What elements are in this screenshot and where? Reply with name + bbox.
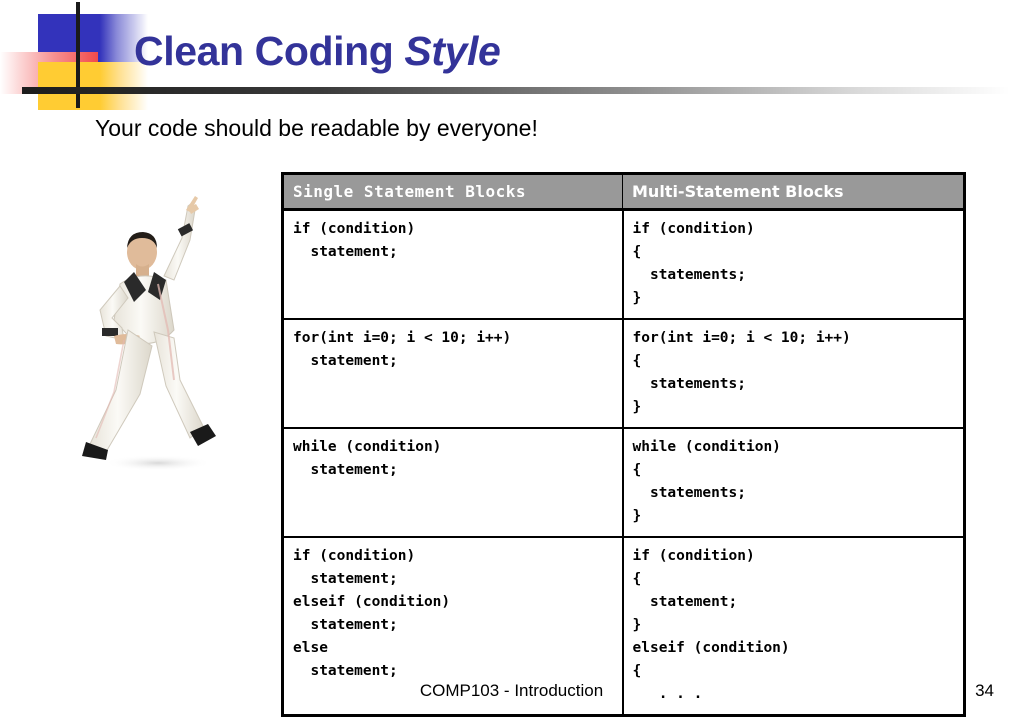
cell-single-while: while (condition) statement; [283, 428, 623, 537]
column-header-single-statement: Single Statement Blocks [283, 174, 623, 210]
page-title-main: Clean Coding [134, 28, 404, 74]
table-header-row: Single Statement Blocks Multi-Statement … [283, 174, 965, 210]
cell-multi-for: for(int i=0; i < 10; i++) { statements; … [623, 319, 965, 428]
table-row: if (condition) statement; if (condition)… [283, 210, 965, 320]
page-title-italic: Style [404, 28, 500, 74]
footer-page-number: 34 [975, 681, 994, 701]
cell-single-for: for(int i=0; i < 10; i++) statement; [283, 319, 623, 428]
title-divider-bar [22, 87, 1010, 94]
column-header-multi-statement: Multi-Statement Blocks [623, 174, 965, 210]
footer-course-label: COMP103 - Introduction [0, 681, 1023, 701]
cell-multi-while: while (condition) { statements; } [623, 428, 965, 537]
table-row: for(int i=0; i < 10; i++) statement; for… [283, 319, 965, 428]
code-style-table: Single Statement Blocks Multi-Statement … [281, 172, 966, 717]
logo-yellow-square [38, 62, 100, 110]
page-title: Clean Coding Style [134, 28, 500, 75]
slide-subtitle: Your code should be readable by everyone… [95, 115, 538, 142]
dancer-illustration [62, 180, 242, 472]
table-row: while (condition) statement; while (cond… [283, 428, 965, 537]
cell-single-if: if (condition) statement; [283, 210, 623, 320]
cell-multi-if: if (condition) { statements; } [623, 210, 965, 320]
disco-dancer-photo [62, 180, 242, 472]
